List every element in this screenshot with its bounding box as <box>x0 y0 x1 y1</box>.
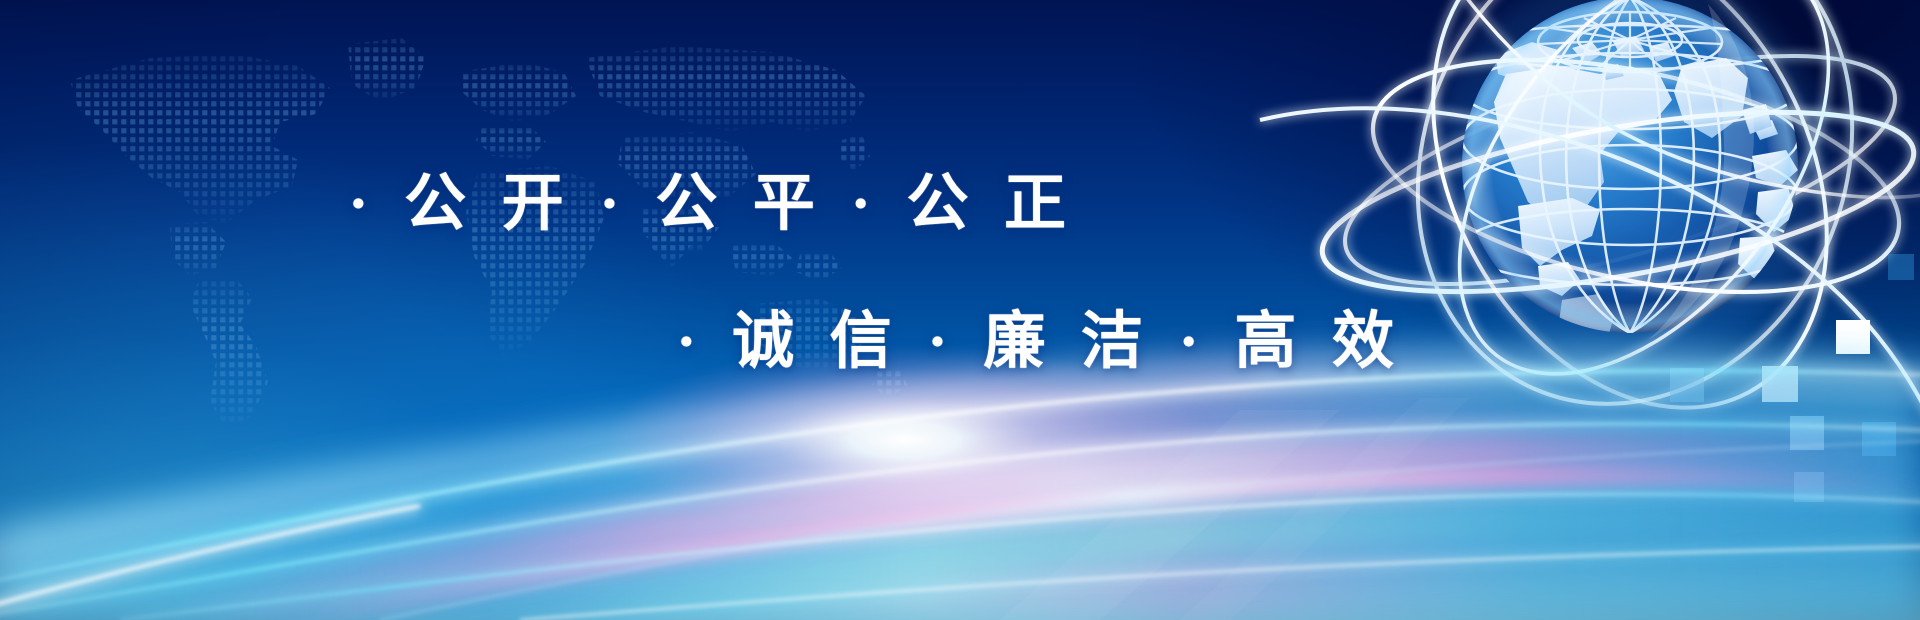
decorative-square <box>1888 254 1914 280</box>
wave-hotspot <box>605 344 1205 536</box>
light-wave-graphic <box>0 290 1920 620</box>
banner-root: · 公 开 · 公 平 · 公 正 · 诚 信 · 廉 洁 · 高 效 <box>0 0 1920 620</box>
